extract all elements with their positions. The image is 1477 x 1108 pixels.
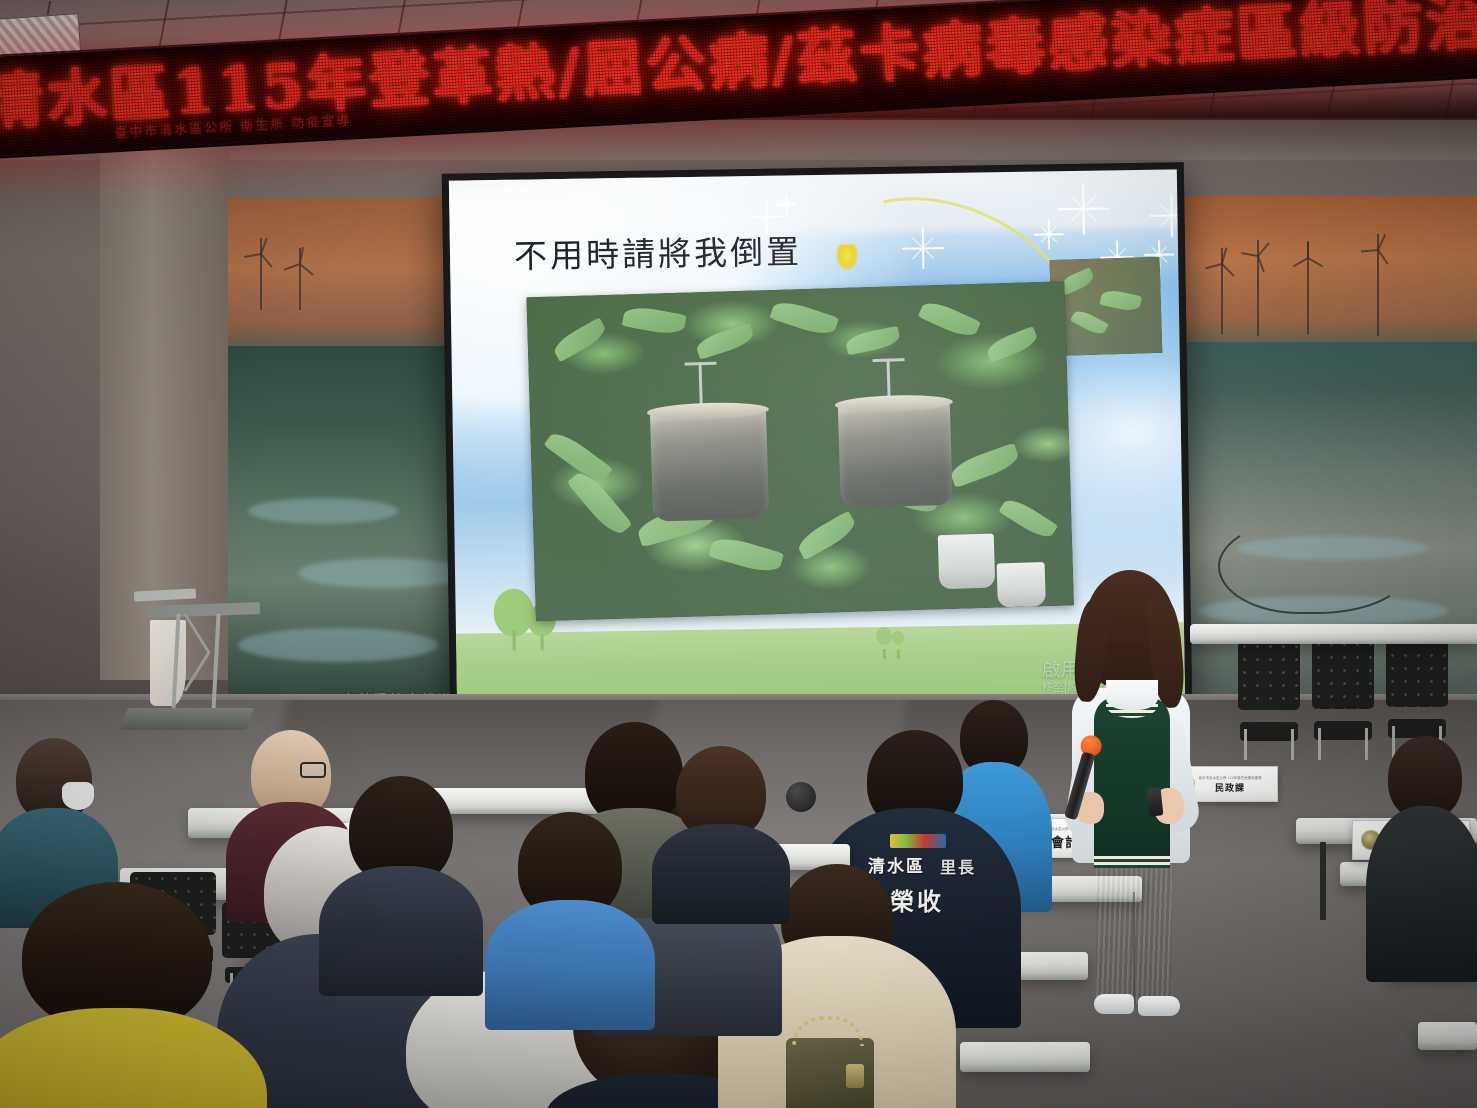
shirt-collar [1106, 680, 1158, 710]
shoe [1138, 996, 1180, 1016]
attendee [666, 746, 776, 886]
attendee [336, 776, 466, 946]
jacket-line-2: 里長 [940, 854, 976, 878]
face-mask [62, 782, 94, 810]
torso [319, 866, 483, 996]
shoe [1094, 994, 1134, 1014]
tree-icon [876, 631, 892, 659]
torso [485, 900, 655, 1030]
folding-table [960, 1042, 1090, 1072]
folding-chair[interactable] [1312, 638, 1374, 760]
wind-turbine-icon [1366, 234, 1390, 336]
conference-room-photo: 高美濕地水棧道 [0, 0, 1477, 1108]
torso [1366, 806, 1477, 982]
slide-title: 不用時請將我倒置 [514, 225, 803, 278]
wall-mural-left: 高美濕地水棧道 [228, 198, 460, 726]
wind-turbine-icon [250, 238, 272, 310]
presentation-clicker[interactable] [1147, 787, 1164, 816]
government-logo [890, 834, 946, 848]
trousers [1096, 856, 1172, 1004]
folding-chair[interactable] [1238, 640, 1300, 760]
plate-dept: 民政課 [1215, 781, 1245, 794]
folding-table [1418, 1022, 1477, 1050]
wind-turbine-icon [290, 248, 310, 310]
jacket-line-1: 清水區 [868, 852, 925, 877]
attendee [500, 812, 640, 982]
slide-photo-secondary [1050, 257, 1163, 356]
folded-podium [118, 592, 248, 732]
attendee-yellow-sweater [12, 882, 222, 1108]
projection-wash [526, 281, 1073, 621]
mural-water-patch [298, 558, 460, 588]
wind-turbine-icon [1246, 240, 1270, 336]
attendee [6, 738, 102, 898]
mural-water-patch [238, 628, 438, 662]
yellow-glow-accent [836, 244, 858, 270]
mural-water-patch [248, 498, 398, 524]
glasses-icon [300, 762, 326, 778]
folding-table [1190, 624, 1477, 644]
torso [652, 824, 790, 924]
table-leg [1320, 842, 1326, 920]
plate-org: 臺中市清水區公所 114年度在地關懷服務 [1198, 775, 1261, 780]
wind-turbine-icon [1210, 248, 1234, 334]
jacket-line-3: 榮收 [890, 882, 944, 917]
wind-turbine-icon [1296, 242, 1320, 334]
bag-clasp-icon [846, 1064, 864, 1088]
green-vest [1094, 696, 1170, 868]
microphone-icon [786, 782, 816, 812]
handbag [786, 1038, 874, 1108]
slide-photo-main [526, 281, 1073, 621]
mural-left-wetland [228, 346, 460, 726]
tree-icon [892, 635, 904, 659]
attendee [1372, 736, 1477, 986]
